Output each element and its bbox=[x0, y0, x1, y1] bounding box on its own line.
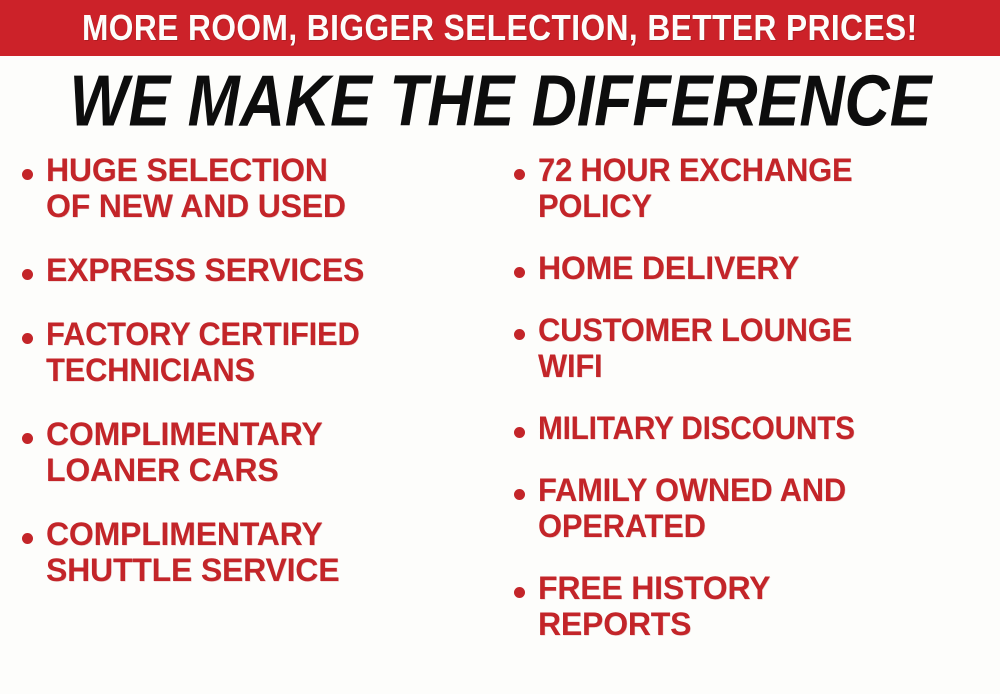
feature-columns: HUGE SELECTION OF NEW AND USED EXPRESS S… bbox=[0, 152, 1000, 694]
list-item-label: FAMILY OWNED AND OPERATED bbox=[538, 472, 982, 544]
feature-column-right: 72 HOUR EXCHANGE POLICY HOME DELIVERY CU… bbox=[500, 152, 1000, 668]
headline-text: WE MAKE THE DIFFERENCE bbox=[69, 65, 931, 137]
list-item: HUGE SELECTION OF NEW AND USED bbox=[22, 152, 494, 224]
list-item-label: COMPLIMENTARY LOANER CARS bbox=[46, 416, 494, 488]
bullet-dot-icon bbox=[22, 169, 33, 180]
bullet-dot-icon bbox=[22, 433, 33, 444]
bullet-dot-icon bbox=[514, 587, 525, 598]
list-item: HOME DELIVERY bbox=[514, 250, 998, 286]
list-item-label: FACTORY CERTIFIED TECHNICIANS bbox=[46, 316, 478, 388]
list-item-label: 72 HOUR EXCHANGE POLICY bbox=[538, 152, 982, 224]
list-item-label: MILITARY DISCOUNTS bbox=[538, 410, 966, 446]
bullet-dot-icon bbox=[514, 169, 525, 180]
list-item-label: HOME DELIVERY bbox=[538, 250, 998, 286]
list-item: 72 HOUR EXCHANGE POLICY bbox=[514, 152, 998, 224]
top-promo-banner: MORE ROOM, BIGGER SELECTION, BETTER PRIC… bbox=[0, 0, 1000, 56]
list-item-label: HUGE SELECTION OF NEW AND USED bbox=[46, 152, 494, 224]
list-item-label: EXPRESS SERVICES bbox=[46, 252, 494, 288]
list-item-label: CUSTOMER LOUNGE WIFI bbox=[538, 312, 982, 384]
bullet-dot-icon bbox=[22, 269, 33, 280]
bullet-dot-icon bbox=[22, 533, 33, 544]
top-promo-banner-text: MORE ROOM, BIGGER SELECTION, BETTER PRIC… bbox=[82, 10, 918, 46]
list-item: FREE HISTORY REPORTS bbox=[514, 570, 998, 642]
list-item-label: COMPLIMENTARY SHUTTLE SERVICE bbox=[46, 516, 494, 588]
bullet-dot-icon bbox=[514, 329, 525, 340]
advertisement-banner-graphic: MORE ROOM, BIGGER SELECTION, BETTER PRIC… bbox=[0, 0, 1000, 694]
bullet-dot-icon bbox=[514, 427, 525, 438]
list-item: MILITARY DISCOUNTS bbox=[514, 410, 998, 446]
list-item: COMPLIMENTARY SHUTTLE SERVICE bbox=[22, 516, 494, 588]
list-item: CUSTOMER LOUNGE WIFI bbox=[514, 312, 998, 384]
list-item: FAMILY OWNED AND OPERATED bbox=[514, 472, 998, 544]
headline: WE MAKE THE DIFFERENCE bbox=[0, 62, 1000, 140]
list-item: COMPLIMENTARY LOANER CARS bbox=[22, 416, 494, 488]
feature-column-left: HUGE SELECTION OF NEW AND USED EXPRESS S… bbox=[0, 152, 500, 616]
list-item-label: FREE HISTORY REPORTS bbox=[538, 570, 998, 642]
list-item: EXPRESS SERVICES bbox=[22, 252, 494, 288]
bullet-dot-icon bbox=[514, 267, 525, 278]
bullet-dot-icon bbox=[22, 333, 33, 344]
bullet-dot-icon bbox=[514, 489, 525, 500]
list-item: FACTORY CERTIFIED TECHNICIANS bbox=[22, 316, 494, 388]
